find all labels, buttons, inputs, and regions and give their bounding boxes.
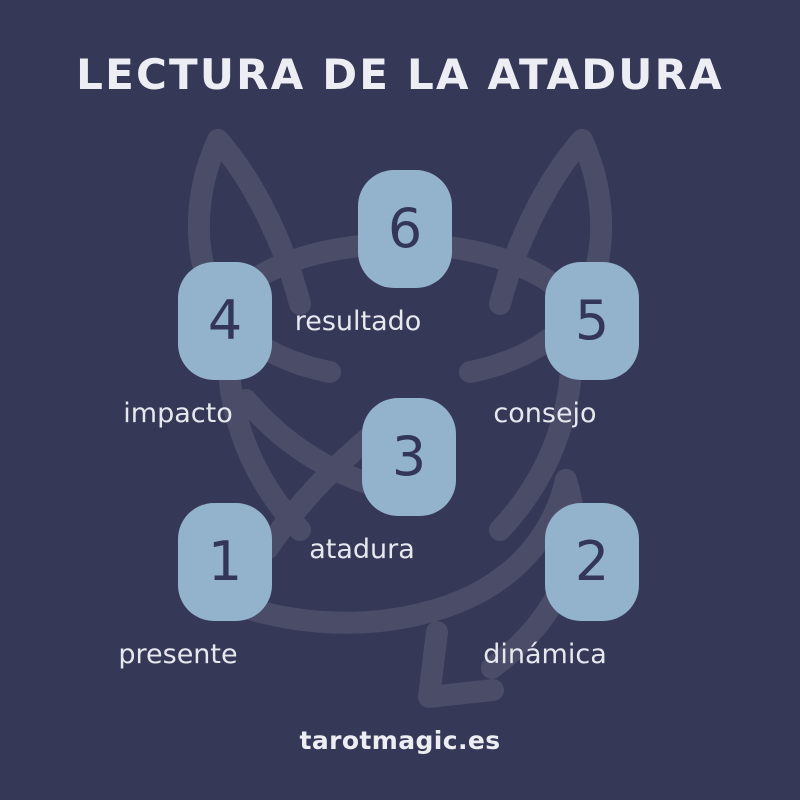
card-label-presente: presente	[118, 639, 237, 670]
card-number-5: 5	[575, 294, 609, 348]
card-number-4: 4	[208, 294, 242, 348]
card-label-dinamica: dinámica	[483, 639, 607, 670]
page-title: LECTURA DE LA ATADURA	[0, 50, 800, 99]
card-label-consejo: consejo	[493, 398, 596, 429]
tarot-card-2[interactable]: 2	[545, 503, 639, 621]
tarot-card-1[interactable]: 1	[178, 503, 272, 621]
tarot-card-6[interactable]: 6	[358, 170, 452, 288]
tarot-card-4[interactable]: 4	[178, 262, 272, 380]
tarot-card-5[interactable]: 5	[545, 262, 639, 380]
card-number-3: 3	[392, 430, 426, 484]
site-watermark[interactable]: tarotmagic.es	[0, 726, 800, 755]
card-number-1: 1	[208, 535, 242, 589]
card-label-impacto: impacto	[123, 398, 232, 429]
card-number-6: 6	[388, 202, 422, 256]
card-label-atadura: atadura	[309, 534, 415, 565]
card-label-resultado: resultado	[295, 306, 422, 337]
tarot-spread-graphic: LECTURA DE LA ATADURA 6 resultado 4 impa…	[0, 0, 800, 800]
tarot-card-3[interactable]: 3	[362, 398, 456, 516]
card-number-2: 2	[575, 535, 609, 589]
